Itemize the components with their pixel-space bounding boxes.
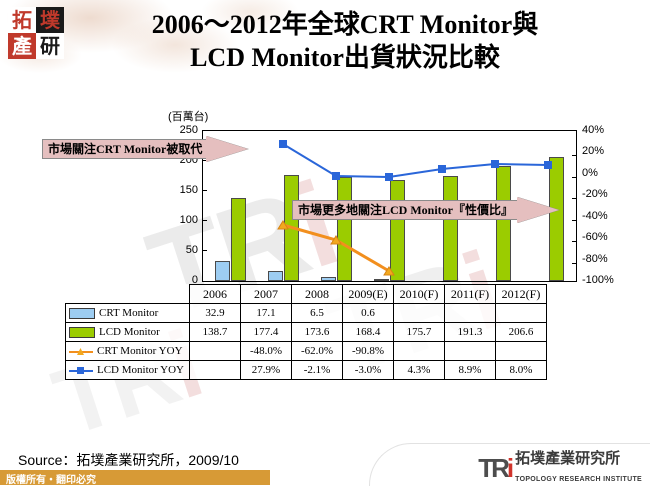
- cell-crtyoy-2011: [445, 342, 496, 361]
- footer-brand-mark: TRi: [478, 455, 511, 481]
- table-corner-cell: [66, 285, 190, 304]
- marker-lcd-yoy-2009: [385, 173, 393, 181]
- marker-lcd-yoy-2008: [332, 172, 340, 180]
- callout-arrow-head-1: [206, 136, 248, 162]
- table-row: LCD Monitor YOY 27.9% -2.1% -3.0% 4.3% 8…: [66, 361, 547, 380]
- cell-crt-2007: 17.1: [241, 304, 292, 323]
- cell-crtyoy-2008: -62.0%: [292, 342, 343, 361]
- callout-lcd-value-text: 市場更多地關注LCD Monitor『性價比』: [292, 200, 517, 220]
- marker-lcd-yoy-2010: [438, 165, 446, 173]
- chart-right-axis: 40% 20% 0% -20% -40% -60% -80% -100%: [582, 124, 642, 284]
- cell-lcd-2008: 173.6: [292, 323, 343, 342]
- right-axis-tickmark-20: [572, 155, 577, 156]
- copyright-text: 版權所有・翻印必究: [6, 471, 96, 486]
- logo-char-3: 產: [8, 33, 36, 59]
- marker-lcd-yoy-2012: [544, 161, 552, 169]
- footer-brand-text: 拓墣產業研究所 TOPOLOGY RESEARCH INSTITUTE: [511, 450, 642, 486]
- cell-lcd-2007: 177.4: [241, 323, 292, 342]
- right-axis-tickmark-n60: [572, 241, 577, 242]
- table-row: CRT Monitor 32.9 17.1 6.5 0.6: [66, 304, 547, 323]
- callout-arrow-head-2: [517, 197, 559, 223]
- line-crt-yoy: [283, 225, 389, 271]
- right-axis-tickmark-n20: [572, 198, 577, 199]
- cell-lcd-2009: 168.4: [343, 323, 394, 342]
- bar-swatch-blue-icon: [69, 308, 95, 319]
- legend-row-lcd-yoy: LCD Monitor YOY: [66, 361, 190, 380]
- page-title-line-1: 2006～2012年全球CRT Monitor與: [110, 8, 580, 41]
- line-swatch-blue-icon: [69, 366, 93, 375]
- line-lcd-yoy: [283, 144, 548, 177]
- page-title-line-2: LCD Monitor出貨狀況比較: [110, 41, 580, 74]
- cell-lcdyoy-2010: 4.3%: [394, 361, 445, 380]
- corporate-logo: 拓 墣 產 研: [8, 7, 64, 59]
- table-header-row: 2006 2007 2008 2009(E) 2010(F) 2011(F) 2…: [66, 285, 547, 304]
- cell-lcdyoy-2012: 8.0%: [496, 361, 547, 380]
- marker-lcd-yoy-2011: [491, 160, 499, 168]
- marker-lcd-yoy-2007: [279, 140, 287, 148]
- legend-label-lcd-yoy: LCD Monitor YOY: [97, 364, 184, 376]
- cell-crtyoy-2007: -48.0%: [241, 342, 292, 361]
- logo-char-1: 拓: [8, 7, 36, 33]
- legend-row-crt-monitor: CRT Monitor: [66, 304, 190, 323]
- footer-brand-en: TOPOLOGY RESEARCH INSTITUTE: [515, 476, 642, 483]
- bar-swatch-green-icon: [69, 327, 95, 338]
- cell-lcd-2012: 206.6: [496, 323, 547, 342]
- cell-crt-2008: 6.5: [292, 304, 343, 323]
- left-axis-tick-250: 250: [160, 124, 198, 136]
- footer-brand-cn: 拓墣產業研究所: [515, 449, 620, 467]
- table-col-2009: 2009(E): [343, 285, 394, 304]
- cell-crtyoy-2006: [190, 342, 241, 361]
- left-axis-tick-50: 50: [160, 244, 198, 256]
- right-axis-tickmark-n40: [572, 220, 577, 221]
- table-row: CRT Monitor YOY -48.0% -62.0% -90.8%: [66, 342, 547, 361]
- cell-lcd-2006: 138.7: [190, 323, 241, 342]
- chart-unit-label: (百萬台): [168, 108, 208, 124]
- cell-lcd-2011: 191.3: [445, 323, 496, 342]
- legend-label-crt-yoy: CRT Monitor YOY: [97, 345, 183, 357]
- cell-crt-2009: 0.6: [343, 304, 394, 323]
- callout-crt-replacement: 市場關注CRT Monitor被取代: [42, 136, 248, 162]
- chart-data-table: 2006 2007 2008 2009(E) 2010(F) 2011(F) 2…: [65, 284, 547, 380]
- callout-crt-replacement-text: 市場關注CRT Monitor被取代: [42, 139, 206, 159]
- table-col-2007: 2007: [241, 285, 292, 304]
- right-axis-tick-20: 20%: [582, 145, 604, 157]
- source-note: Source：拓墣產業研究所，2009/10: [18, 450, 239, 470]
- cell-crt-2011: [445, 304, 496, 323]
- table-col-2012: 2012(F): [496, 285, 547, 304]
- line-swatch-orange-icon: [69, 347, 93, 356]
- right-axis-tick-n60: -60%: [582, 231, 608, 243]
- right-axis-tick-40: 40%: [582, 124, 604, 136]
- cell-crtyoy-2009: -90.8%: [343, 342, 394, 361]
- table-col-2008: 2008: [292, 285, 343, 304]
- cell-lcdyoy-2011: 8.9%: [445, 361, 496, 380]
- cell-crt-2006: 32.9: [190, 304, 241, 323]
- right-axis-tick-n40: -40%: [582, 210, 608, 222]
- footer-brand-logo: TRi 拓墣產業研究所 TOPOLOGY RESEARCH INSTITUTE: [478, 450, 642, 486]
- cell-lcdyoy-2007: 27.9%: [241, 361, 292, 380]
- cell-lcd-2010: 175.7: [394, 323, 445, 342]
- right-axis-tick-0: 0%: [582, 167, 598, 179]
- cell-crt-2012: [496, 304, 547, 323]
- table-col-2011: 2011(F): [445, 285, 496, 304]
- cell-crt-2010: [394, 304, 445, 323]
- cell-crtyoy-2012: [496, 342, 547, 361]
- page-title: 2006～2012年全球CRT Monitor與 LCD Monitor出貨狀況…: [110, 8, 580, 74]
- table-row: LCD Monitor 138.7 177.4 173.6 168.4 175.…: [66, 323, 547, 342]
- left-axis-tick-150: 150: [160, 184, 198, 196]
- table-col-2010: 2010(F): [394, 285, 445, 304]
- right-axis-tick-n80: -80%: [582, 253, 608, 265]
- right-axis-tickmark-0: [572, 177, 577, 178]
- cell-lcdyoy-2008: -2.1%: [292, 361, 343, 380]
- legend-label-crt-monitor: CRT Monitor: [99, 307, 158, 319]
- cell-lcdyoy-2006: [190, 361, 241, 380]
- callout-lcd-value: 市場更多地關注LCD Monitor『性價比』: [292, 197, 559, 223]
- logo-char-4: 研: [36, 33, 64, 59]
- right-axis-tick-n20: -20%: [582, 188, 608, 200]
- legend-label-lcd-monitor: LCD Monitor: [99, 326, 160, 338]
- legend-row-crt-yoy: CRT Monitor YOY: [66, 342, 190, 361]
- right-axis-tickmark-n80: [572, 263, 577, 264]
- right-axis-tick-n100: -100%: [582, 274, 614, 286]
- cell-lcdyoy-2009: -3.0%: [343, 361, 394, 380]
- left-axis-tick-100: 100: [160, 214, 198, 226]
- cell-crtyoy-2010: [394, 342, 445, 361]
- logo-char-2: 墣: [36, 7, 64, 33]
- table-col-2006: 2006: [190, 285, 241, 304]
- legend-row-lcd-monitor: LCD Monitor: [66, 323, 190, 342]
